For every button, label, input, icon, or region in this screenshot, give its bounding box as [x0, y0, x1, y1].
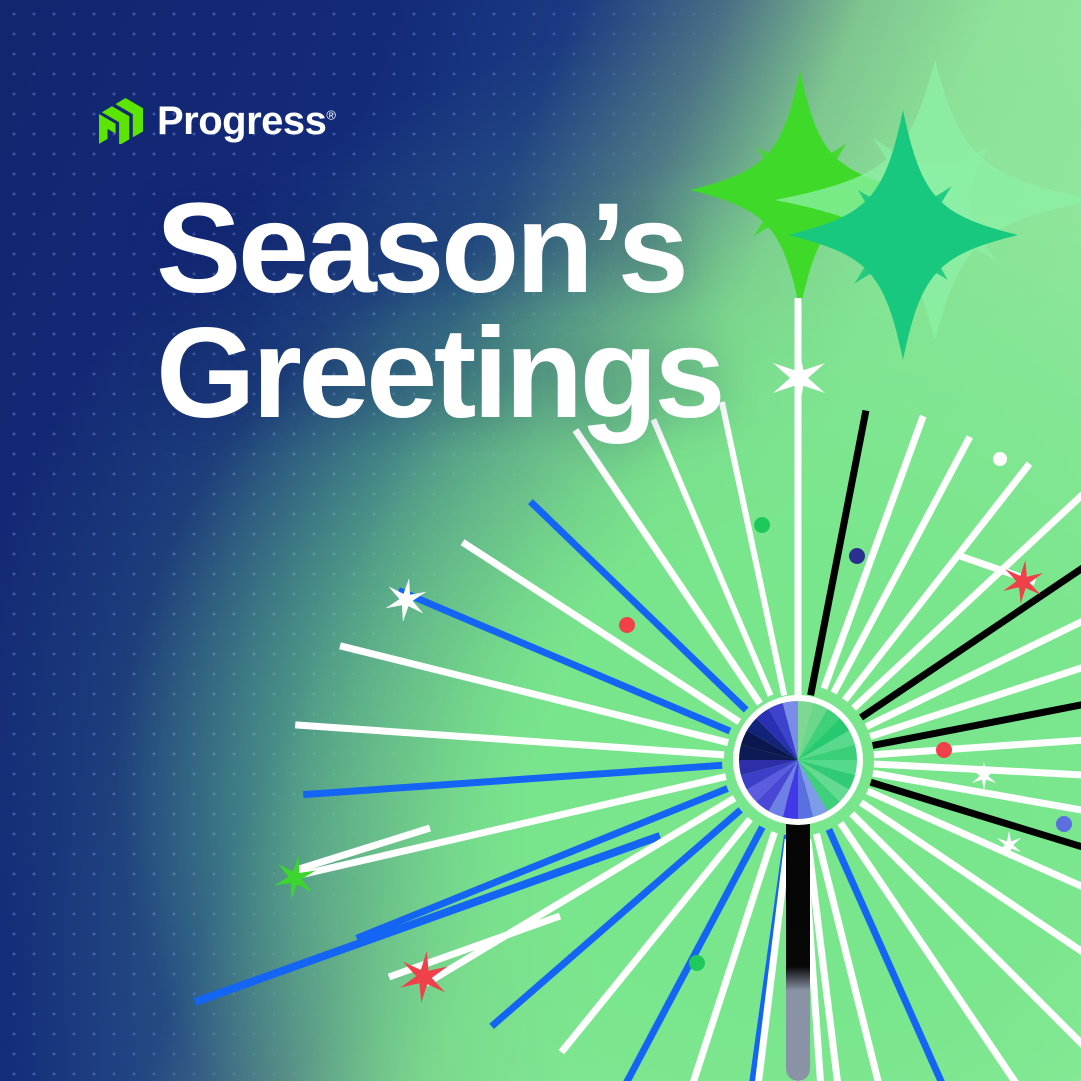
- sparkler-ray-20: [816, 834, 889, 1081]
- progress-wordmark: Progress®: [157, 101, 336, 141]
- dot-navy-upper-right: [849, 548, 865, 564]
- progress-logo-icon: [99, 98, 143, 144]
- progress-wordmark-text: Progress: [157, 99, 326, 143]
- sparkler-ray-32: [866, 595, 1081, 727]
- sparkler-artwork: [0, 0, 1081, 1081]
- sparkler-ray-23: [852, 814, 1081, 1081]
- sparkler-stick: [786, 780, 810, 1081]
- dot-green-lower: [689, 955, 705, 971]
- sparkler-ray-8: [340, 646, 728, 743]
- sparkler-ray-16: [626, 827, 762, 1081]
- star-white-sparkler-tip: [773, 348, 825, 408]
- sparkler-ray-25: [867, 791, 1081, 913]
- progress-brand-lockup[interactable]: Progress®: [99, 98, 336, 144]
- sparkler-ray-9: [295, 725, 724, 755]
- sparkler-ray-28: [874, 764, 1081, 776]
- dot-blue-right: [1056, 816, 1072, 832]
- dot-red-left: [619, 617, 635, 633]
- progress-logo-mark-icon: [99, 98, 143, 144]
- dot-green-upper: [754, 517, 770, 533]
- glow-stars-group: [690, 60, 1081, 360]
- dot-red-right: [936, 742, 952, 758]
- sparkler-ray-15: [561, 819, 750, 1052]
- page-title: Season’s Greetings: [156, 186, 722, 437]
- sparkler-stick-body: [786, 780, 810, 1081]
- registered-trademark-symbol: ®: [326, 108, 336, 123]
- dot-white-upper-right: [993, 452, 1007, 466]
- sparkler-ray-4: [575, 430, 760, 704]
- sparkler-pinwheel: [736, 698, 860, 822]
- holiday-card-canvas: Progress® Season’s Greetings: [0, 0, 1081, 1081]
